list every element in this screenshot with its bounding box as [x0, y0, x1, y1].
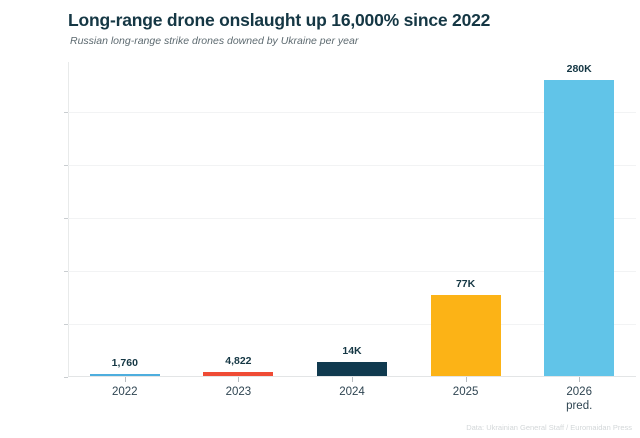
bar-chart-figure: Long-range drone onslaught up 16,000% si… [0, 0, 640, 438]
source-attribution: Data: Ukrainian General Staff / Euromaid… [466, 423, 632, 432]
y-axis-tick-mark [64, 218, 68, 219]
bar-group[interactable]: 14K2024 [317, 62, 387, 377]
bar-group[interactable]: 77K2025 [431, 62, 501, 377]
bar-group[interactable]: 280K2026pred. [544, 62, 614, 377]
bar-group[interactable]: 4,8222023 [203, 62, 273, 377]
y-axis-line [68, 62, 69, 377]
bar-2024[interactable] [317, 362, 387, 377]
x-axis-tick-mark [238, 377, 239, 382]
chart-title: Long-range drone onslaught up 16,000% si… [68, 10, 490, 31]
x-axis-baseline [68, 376, 636, 377]
bar-group[interactable]: 1,7602022 [90, 62, 160, 377]
x-axis-tick-label: 2023 [226, 385, 252, 399]
x-axis-tick-label: 2025 [453, 385, 479, 399]
y-axis-tick-mark [64, 112, 68, 113]
plot-area: 050,000100,000150,000200,000250,000 1,76… [68, 62, 636, 377]
x-axis-tick-mark [125, 377, 126, 382]
bar-value-label: 280K [567, 63, 592, 75]
x-axis-tick-mark [352, 377, 353, 382]
bar-value-label: 77K [456, 278, 475, 290]
x-axis-tick-mark [466, 377, 467, 382]
bar-2026[interactable] [544, 80, 614, 377]
x-axis-tick-label: 2024 [339, 385, 365, 399]
chart-subtitle: Russian long-range strike drones downed … [70, 35, 358, 47]
x-axis-tick-mark [579, 377, 580, 382]
bar-value-label: 14K [342, 345, 361, 357]
y-axis-tick-mark [64, 324, 68, 325]
x-axis-tick-label: 2026pred. [566, 385, 592, 413]
y-axis-tick-mark [64, 377, 68, 378]
bar-value-label: 4,822 [225, 355, 251, 367]
y-axis-tick-mark [64, 165, 68, 166]
x-axis-tick-label: 2022 [112, 385, 138, 399]
bar-2025[interactable] [431, 295, 501, 377]
y-axis-tick-mark [64, 271, 68, 272]
bar-value-label: 1,760 [112, 357, 138, 369]
